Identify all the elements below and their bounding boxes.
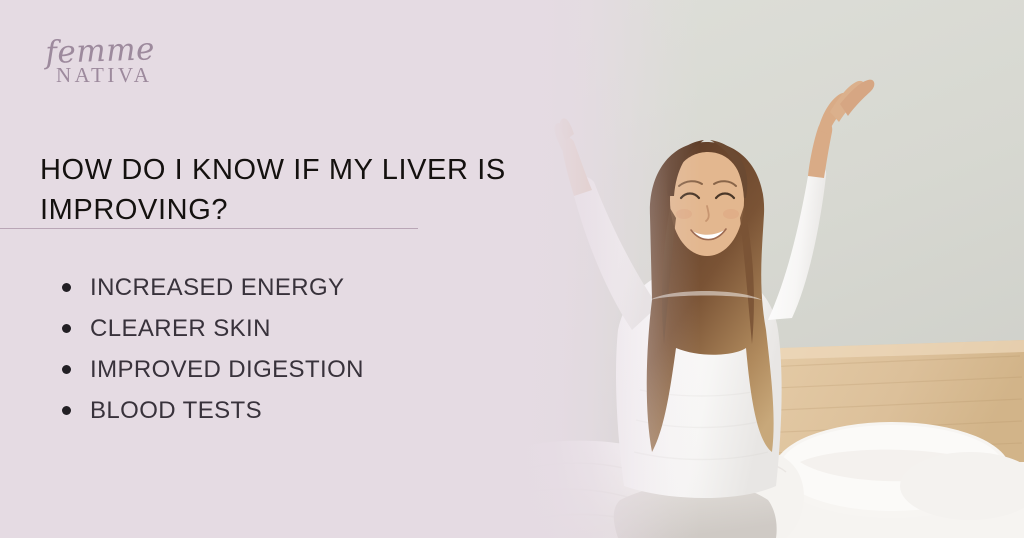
list-item: BLOOD TESTS: [56, 399, 496, 423]
list-item: IMPROVED DIGESTION: [56, 358, 496, 382]
promo-graphic: femme NATIVA HOW DO I KNOW IF MY LIVER I…: [0, 0, 1024, 538]
woman-stretching-in-bed-illustration: [500, 0, 1024, 538]
list-item-label: CLEARER SKIN: [90, 315, 271, 342]
list-item: CLEARER SKIN: [56, 317, 496, 341]
bullet-dot-icon: [62, 365, 71, 374]
list-item-label: BLOOD TESTS: [90, 397, 262, 424]
page-title: HOW DO I KNOW IF MY LIVER IS IMPROVING?: [40, 150, 530, 230]
brand-script-word: femme: [45, 32, 218, 69]
bullet-dot-icon: [62, 324, 71, 333]
hero-photo: [500, 0, 1024, 538]
title-divider: [0, 228, 418, 229]
brand-logo: femme NATIVA: [38, 38, 218, 100]
list-item-label: INCREASED ENERGY: [90, 274, 344, 301]
list-item: INCREASED ENERGY: [56, 276, 496, 300]
benefits-list: INCREASED ENERGY CLEARER SKIN IMPROVED D…: [56, 276, 496, 423]
bullet-dot-icon: [62, 283, 71, 292]
list-item-label: IMPROVED DIGESTION: [90, 356, 364, 383]
bullet-dot-icon: [62, 406, 71, 415]
